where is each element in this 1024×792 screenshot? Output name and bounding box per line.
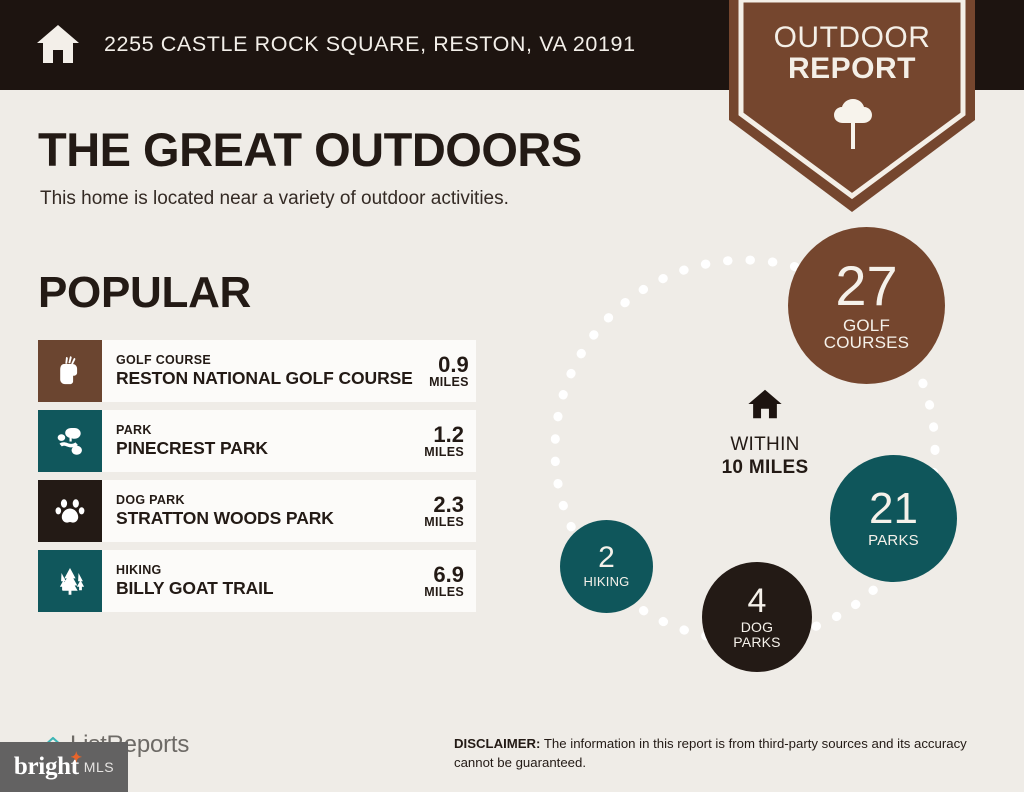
list-item-distance-unit: MILES [408,446,464,460]
bright-mls-brand: bright ✦ [14,753,79,781]
list-item-body: PARK PINECREST PARK 1.2 MILES [102,410,476,472]
bubble-value: 27 [835,259,897,313]
list-item-name: PINECREST PARK [116,438,268,459]
bubble-value: 21 [869,488,918,530]
bubble-label-line1: HIKING [584,575,630,589]
list-item-category: GOLF COURSE [116,353,413,369]
list-item-distance-value: 0.9 [413,353,469,376]
bubble-label-line2: PARKS [733,635,780,650]
pine-trees-icon [38,550,102,612]
bright-mls-label: MLS [84,759,114,775]
bubble-value: 2 [598,544,615,573]
list-item-name: RESTON NATIONAL GOLF COURSE [116,368,413,389]
center-label-line1: WITHIN [680,434,850,457]
list-item[interactable]: DOG PARK STRATTON WOODS PARK 2.3 MILES [38,480,476,542]
popular-list: GOLF COURSE RESTON NATIONAL GOLF COURSE … [38,340,476,620]
golf-bag-icon [38,340,102,402]
list-item-distance-unit: MILES [408,586,464,600]
page-title: THE GREAT OUTDOORS [38,122,582,177]
bubble-dog-parks[interactable]: 4 DOG PARKS [702,562,812,672]
list-item-text: GOLF COURSE RESTON NATIONAL GOLF COURSE [116,353,413,390]
park-tree-icon [38,410,102,472]
bright-mls-brand-text: bright [14,753,79,780]
list-item-distance-unit: MILES [413,376,469,390]
list-item-name: STRATTON WOODS PARK [116,508,334,529]
list-item-distance: 6.9 MILES [408,563,464,600]
center-marker: WITHIN 10 MILES [680,385,850,480]
bubble-label-line1: DOG [741,620,774,635]
bubble-golf-courses[interactable]: 27 GOLF COURSES [788,227,945,384]
list-item-category: DOG PARK [116,493,334,509]
bubble-label-line2: COURSES [824,334,909,352]
bubble-label-line1: GOLF [843,317,890,335]
list-item-body: HIKING BILLY GOAT TRAIL 6.9 MILES [102,550,476,612]
page-subtitle: This home is located near a variety of o… [40,188,509,210]
bubble-label-line1: PARKS [868,533,919,549]
list-item-distance: 1.2 MILES [408,423,464,460]
list-item-distance-value: 6.9 [408,563,464,586]
list-item[interactable]: GOLF COURSE RESTON NATIONAL GOLF COURSE … [38,340,476,402]
list-item[interactable]: HIKING BILLY GOAT TRAIL 6.9 MILES [38,550,476,612]
list-item-distance-unit: MILES [408,516,464,530]
list-item-text: HIKING BILLY GOAT TRAIL [116,563,274,600]
bubble-chart: 27 GOLF COURSES 21 PARKS 4 DOG PARKS 2 H… [530,225,1000,675]
bubble-hiking[interactable]: 2 HIKING [560,520,653,613]
outdoor-report-badge: OUTDOOR REPORT [729,0,975,212]
property-address: 2255 CASTLE ROCK SQUARE, RESTON, VA 2019… [104,32,636,57]
list-item-distance: 0.9 MILES [413,353,469,390]
list-item[interactable]: PARK PINECREST PARK 1.2 MILES [38,410,476,472]
disclaimer: DISCLAIMER: The information in this repo… [454,734,994,772]
section-title-popular: POPULAR [38,268,251,318]
list-item-text: PARK PINECREST PARK [116,423,268,460]
list-item-category: PARK [116,423,268,439]
header-content: 2255 CASTLE ROCK SQUARE, RESTON, VA 2019… [34,20,636,68]
list-item-distance: 2.3 MILES [408,493,464,530]
star-icon: ✦ [70,752,81,766]
home-icon [34,20,82,68]
disclaimer-label: DISCLAIMER: [454,736,540,751]
bright-mls-watermark: bright ✦ MLS [0,742,128,792]
list-item-body: GOLF COURSE RESTON NATIONAL GOLF COURSE … [102,340,481,402]
list-item-distance-value: 1.2 [408,423,464,446]
home-icon [746,410,784,427]
list-item-name: BILLY GOAT TRAIL [116,578,274,599]
list-item-text: DOG PARK STRATTON WOODS PARK [116,493,334,530]
list-item-body: DOG PARK STRATTON WOODS PARK 2.3 MILES [102,480,476,542]
paw-print-icon [38,480,102,542]
list-item-distance-value: 2.3 [408,493,464,516]
bubble-value: 4 [748,585,767,618]
center-label-line2: 10 MILES [680,457,850,480]
list-item-category: HIKING [116,563,274,579]
